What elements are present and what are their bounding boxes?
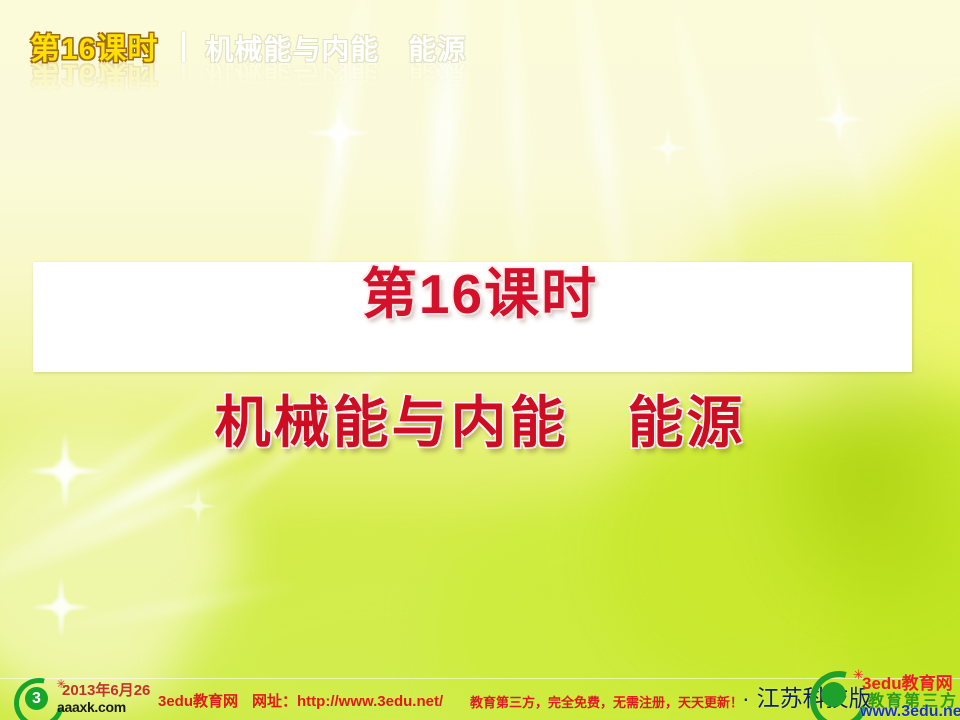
date-stamp: 2013年6月26 xyxy=(62,679,150,700)
footer-site-name: 3edu教育网 xyxy=(158,693,238,710)
logo-three-mark: 3 xyxy=(25,687,48,710)
logo-domain-text: aaaxk.com xyxy=(57,699,126,715)
presentation-slide: 第16课时 机械能与内能 能源 第16课时 机械能与内能 能源 第16课时 机械… xyxy=(0,0,960,720)
footer-site-info: 3edu教育网网址：http://www.3edu.net/ xyxy=(158,690,443,711)
background-shading xyxy=(740,330,960,630)
3edu-url-text[interactable]: www.3edu.net xyxy=(860,703,960,720)
3edu-ring-inner-icon xyxy=(821,682,846,707)
header-separator xyxy=(182,32,185,62)
page-subtitle: 机械能与内能 能源 xyxy=(0,378,960,459)
footer-slogan: 教育第三方，完全免费，无需注册，天天更新！ xyxy=(470,692,743,711)
slide-header: 第16课时 机械能与内能 能源 第16课时 机械能与内能 能源 xyxy=(0,0,960,100)
footer-site-url[interactable]: 网址：http://www.3edu.net/ xyxy=(252,693,443,710)
header-row: 第16课时 机械能与内能 能源 xyxy=(30,24,466,68)
page-title: 第16课时 xyxy=(0,249,960,329)
aaaxk-logo: 3 ✳ 2013年6月26 aaaxk.com xyxy=(8,676,156,720)
3edu-logo: ✳ 3edu教育网 教育第三方 www.3edu.net xyxy=(806,668,960,720)
header-lesson-number: 第16课时 xyxy=(30,24,158,68)
header-title: 机械能与内能 能源 xyxy=(205,28,466,68)
